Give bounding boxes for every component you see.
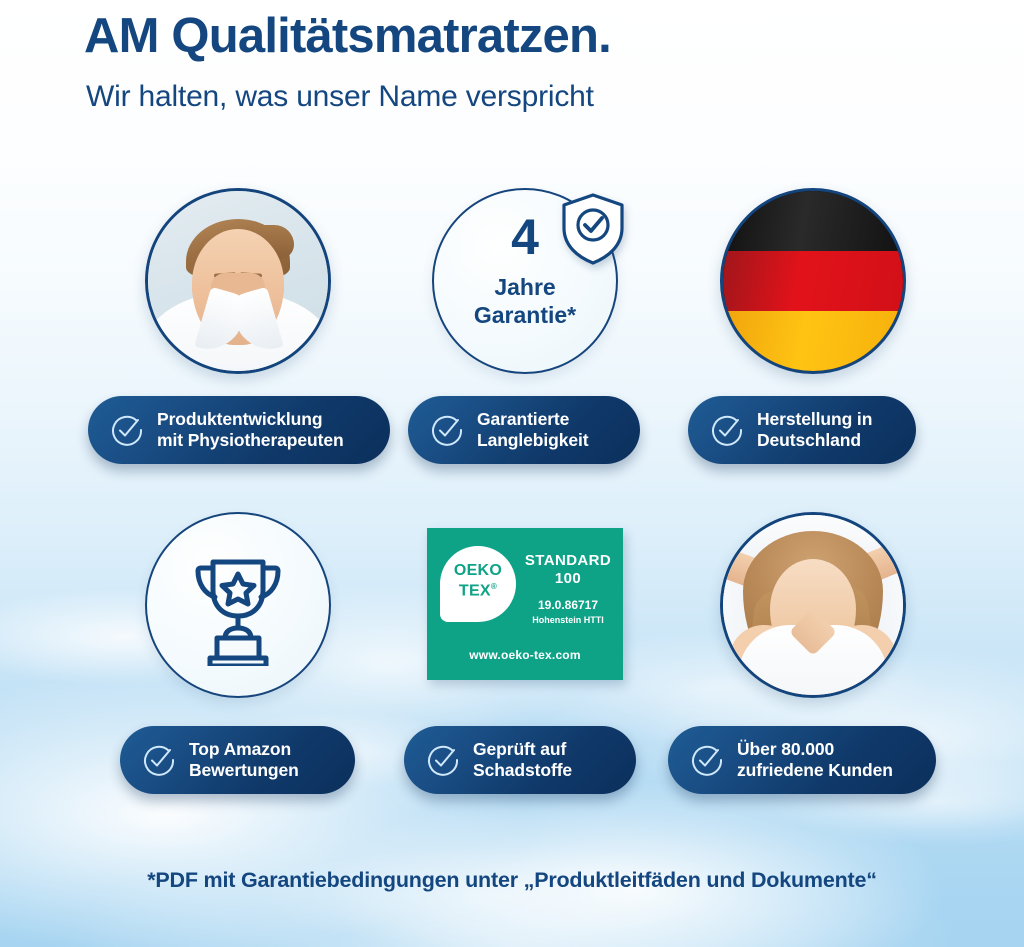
check-circle-icon (430, 413, 464, 447)
badge-made-in-germany[interactable]: Herstellung in Deutschland (688, 396, 916, 464)
badge-label-line2: zufriedene Kunden (737, 760, 893, 781)
shield-check-icon (558, 192, 628, 266)
flag-band-gold (723, 311, 903, 371)
badge-label-line1: Geprüft auf (473, 739, 572, 760)
badge-label: Produktentwicklung mit Physiotherapeuten (157, 409, 344, 452)
portrait-woman-photo (720, 512, 906, 698)
oeko-tex-standard-line2: 100 (519, 570, 617, 587)
check-circle-icon (142, 743, 176, 777)
warranty-guarantee-label: Garantie* (434, 302, 616, 329)
badge-label-line2: Deutschland (757, 430, 872, 451)
badge-product-development[interactable]: Produktentwicklung mit Physiotherapeuten (88, 396, 390, 464)
oeko-tex-standard-line1: STANDARD (519, 552, 617, 569)
feature-guaranteed-longevity: 4 Jahre Garantie* (375, 188, 675, 374)
oeko-tex-url: www.oeko-tex.com (427, 648, 623, 662)
oeko-tex-label: OEKO TEX® STANDARD 100 19.0.86717 Hohens… (427, 528, 623, 680)
infographic-page: AM Qualitätsmatratzen. Wir halten, was u… (0, 0, 1024, 947)
badge-label: Herstellung in Deutschland (757, 409, 872, 452)
oeko-tex-droplet: OEKO TEX® (440, 546, 516, 622)
badge-label-line1: Herstellung in (757, 409, 872, 430)
check-circle-icon (426, 743, 460, 777)
badge-label: Top Amazon Bewertungen (189, 739, 299, 782)
feature-made-in-germany (663, 188, 963, 374)
oeko-tex-brand-line2: TEX® (440, 582, 516, 600)
german-flag-circle (720, 188, 906, 374)
badge-label-line1: Top Amazon (189, 739, 299, 760)
page-title: AM Qualitätsmatratzen. (84, 8, 611, 64)
feature-satisfied-customers (663, 512, 963, 698)
badge-tested-for-harmful-substances[interactable]: Geprüft auf Schadstoffe (404, 726, 636, 794)
badge-label: Geprüft auf Schadstoffe (473, 739, 572, 782)
badge-label-line1: Über 80.000 (737, 739, 893, 760)
footnote-text: *PDF mit Garantiebedingungen unter „Prod… (0, 868, 1024, 893)
badge-label-line1: Garantierte (477, 409, 589, 430)
oeko-tex-brand-line1: OEKO (440, 562, 516, 580)
warranty-circle: 4 Jahre Garantie* (432, 188, 618, 374)
badge-satisfied-customers[interactable]: Über 80.000 zufriedene Kunden (668, 726, 936, 794)
badge-label: Garantierte Langlebigkeit (477, 409, 589, 452)
badge-label: Über 80.000 zufriedene Kunden (737, 739, 893, 782)
badge-label-line2: Schadstoffe (473, 760, 572, 781)
trophy-icon (177, 544, 299, 666)
flag-band-red (723, 251, 903, 311)
badge-top-amazon-ratings[interactable]: Top Amazon Bewertungen (120, 726, 355, 794)
badge-label-line2: Langlebigkeit (477, 430, 589, 451)
warranty-years-label: Jahre (434, 274, 616, 301)
badge-label-line1: Produktentwicklung (157, 409, 344, 430)
trophy-circle (145, 512, 331, 698)
check-circle-icon (690, 743, 724, 777)
flag-band-black (723, 191, 903, 251)
page-subtitle: Wir halten, was unser Name verspricht (86, 80, 594, 114)
badge-guaranteed-longevity[interactable]: Garantierte Langlebigkeit (408, 396, 640, 464)
check-circle-icon (710, 413, 744, 447)
oeko-tex-certificate-number: 19.0.86717 (519, 598, 617, 612)
badge-label-line2: mit Physiotherapeuten (157, 430, 344, 451)
oeko-tex-brand-text: TEX (459, 582, 491, 599)
feature-tested-for-harmful-substances: OEKO TEX® STANDARD 100 19.0.86717 Hohens… (375, 512, 675, 680)
feature-product-development (88, 188, 388, 374)
feature-top-amazon-ratings (88, 512, 388, 698)
badge-label-line2: Bewertungen (189, 760, 299, 781)
check-circle-icon (110, 413, 144, 447)
portrait-man-photo (145, 188, 331, 374)
oeko-tex-institute: Hohenstein HTTI (519, 615, 617, 625)
registered-mark-icon: ® (491, 582, 497, 591)
